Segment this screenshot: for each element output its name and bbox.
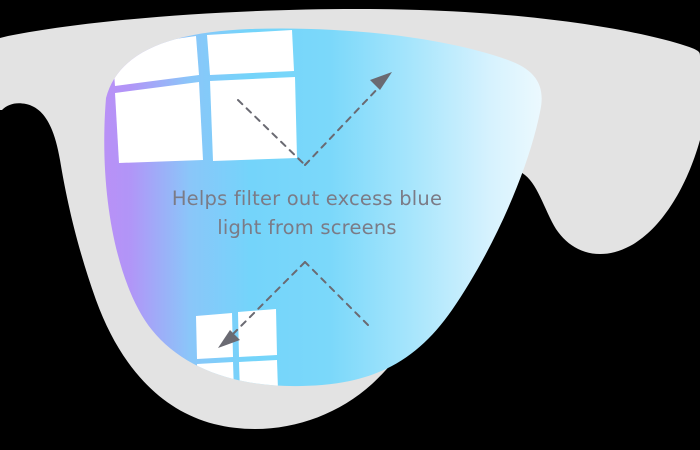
window-pane-bottom-left [115, 82, 203, 163]
glasses-illustration-svg: Helps filter out excess blue light from … [0, 0, 700, 450]
lens-caption-line-2: light from screens [217, 216, 397, 239]
window-pane-bottom-right [210, 77, 297, 161]
window-pane-lower-top-right [238, 309, 277, 357]
lens-caption-line-1: Helps filter out excess blue [172, 187, 442, 210]
illustration-canvas: Helps filter out excess blue light from … [0, 0, 700, 450]
window-pane-top-right [207, 30, 294, 75]
